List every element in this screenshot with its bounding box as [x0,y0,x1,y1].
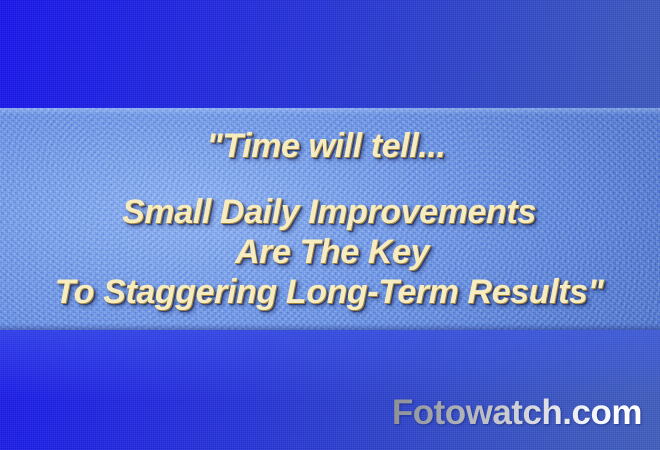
quote-image-canvas: "Time will tell... Small Daily Improveme… [0,0,660,450]
panel-texture-layer-c [0,108,660,330]
textured-quote-panel [0,108,660,330]
panel-edge-shading [0,108,660,330]
panel-texture-layer-a [0,108,660,330]
panel-texture-layer-b [0,108,660,330]
fotowatch-watermark: Fotowatch.com [392,394,642,432]
